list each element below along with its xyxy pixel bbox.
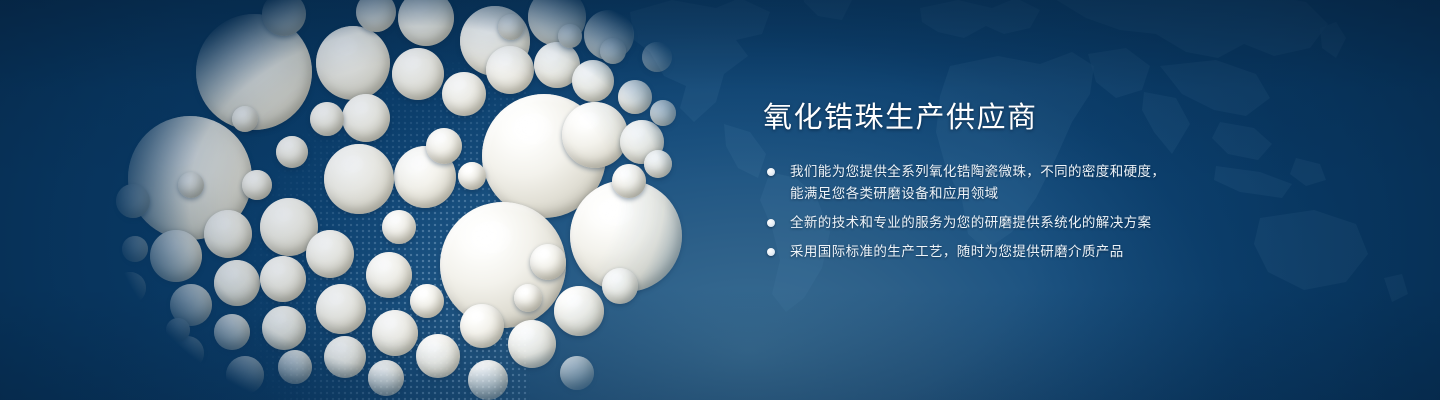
banner-copy: 氧化锆珠生产供应商 我们能为您提供全系列氧化锆陶瓷微珠，不同的密度和硬度， 能满… (763, 104, 1283, 263)
banner-feature-list: 我们能为您提供全系列氧化锆陶瓷微珠，不同的密度和硬度， 能满足您各类研磨设备和应… (763, 161, 1283, 263)
list-item-line: 全新的技术和专业的服务为您的研磨提供系统化的解决方案 (790, 212, 1283, 234)
list-item-line: 采用国际标准的生产工艺，随时为您提供研磨介质产品 (790, 241, 1283, 263)
list-item-line: 能满足您各类研磨设备和应用领域 (790, 183, 1283, 205)
hero-banner: 氧化锆珠生产供应商 我们能为您提供全系列氧化锆陶瓷微珠，不同的密度和硬度， 能满… (0, 0, 1440, 400)
dot-bullet-icon (767, 219, 775, 227)
list-item: 采用国际标准的生产工艺，随时为您提供研磨介质产品 (763, 241, 1283, 263)
list-item-line: 我们能为您提供全系列氧化锆陶瓷微珠，不同的密度和硬度， (790, 161, 1283, 183)
list-item: 我们能为您提供全系列氧化锆陶瓷微珠，不同的密度和硬度， 能满足您各类研磨设备和应… (763, 161, 1283, 205)
banner-headline: 氧化锆珠生产供应商 (763, 104, 1283, 133)
dot-bullet-icon (767, 248, 775, 256)
dot-bullet-icon (767, 168, 775, 176)
list-item: 全新的技术和专业的服务为您的研磨提供系统化的解决方案 (763, 212, 1283, 234)
